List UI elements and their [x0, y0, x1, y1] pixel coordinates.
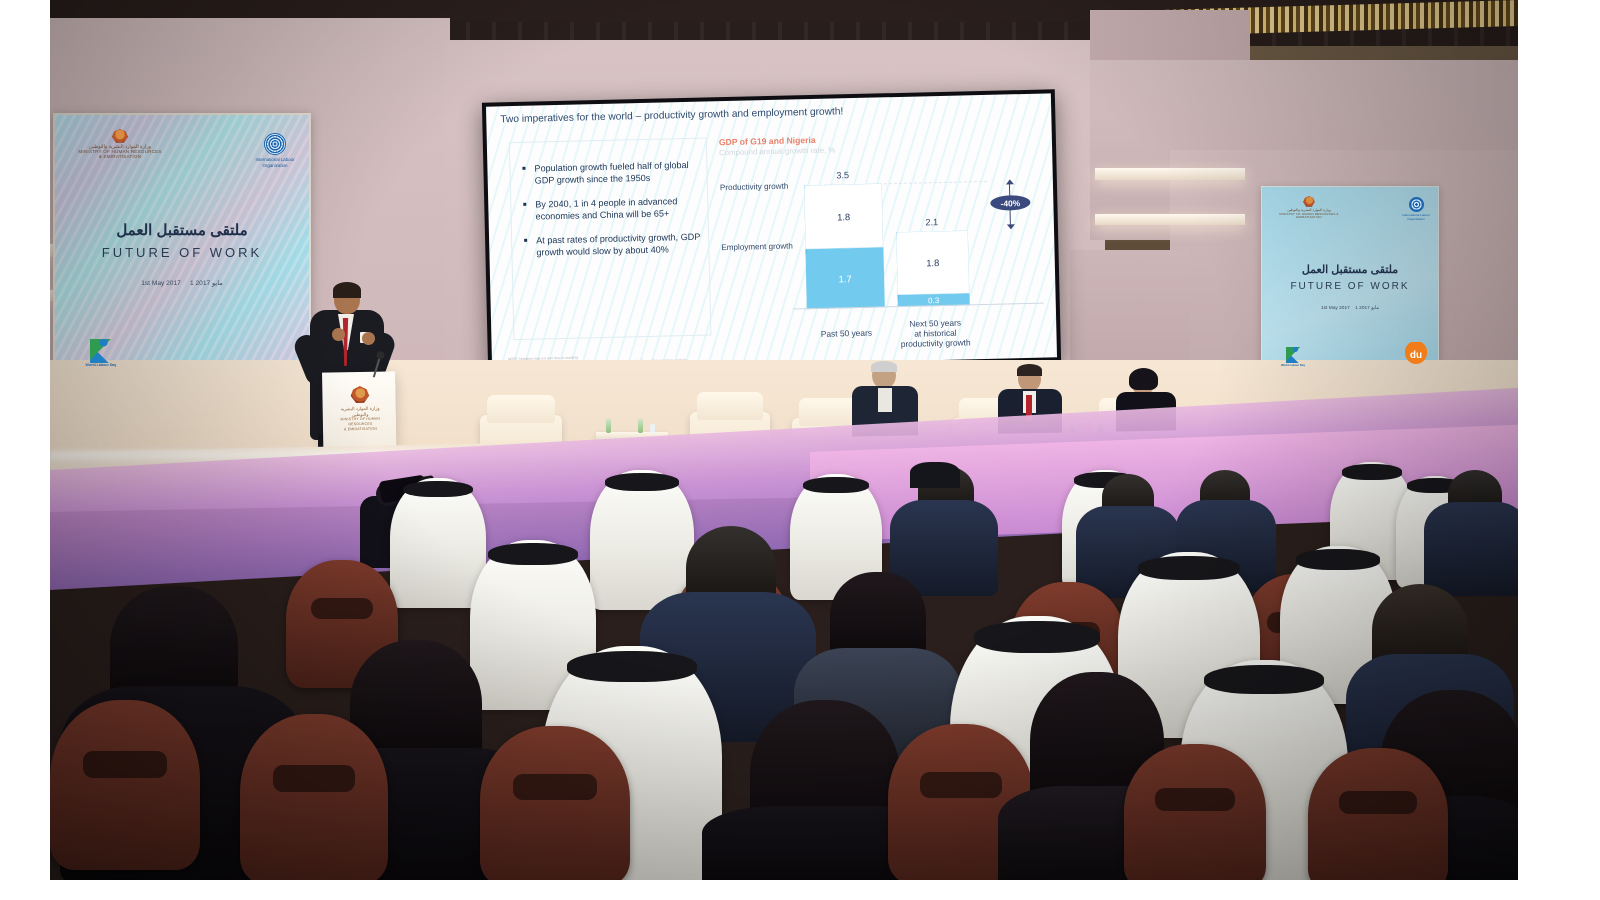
panelist-hijab: [1129, 368, 1158, 390]
conference-photo: وزارة الموارد البشرية والتوطين MINISTRY …: [50, 0, 1518, 880]
series-label-employment: Employment growth: [721, 242, 793, 253]
gdp-growth-chart: GDP of G19 and Nigeria Compound annual g…: [719, 130, 1049, 346]
banner-title-ar: ملتقى مستقبل العمل: [55, 221, 309, 239]
ministry-name-en: MINISTRY OF HUMAN RESOURCES & EMIRATISAT…: [1276, 213, 1342, 219]
panelist-hair: [1017, 364, 1042, 376]
falcon-emblem-icon: [1303, 196, 1316, 207]
ilo-mark-icon: [264, 133, 286, 155]
banner-title-en: FUTURE OF WORK: [1262, 281, 1438, 292]
du-sponsor-logo: du: [1401, 342, 1431, 368]
agal-band-icon: [974, 621, 1099, 653]
banner-title-en: FUTURE OF WORK: [55, 245, 309, 260]
world-labour-day-label: World Labour Day: [71, 363, 131, 367]
podium-ministry-ar: وزارة الموارد البشرية والتوطين: [333, 406, 388, 418]
speaker-hair: [333, 282, 361, 298]
x-tick-label: Past 50 years: [799, 327, 893, 339]
banner-date-en: 1st May 2017: [1321, 306, 1350, 311]
speaker-left-hand: [332, 328, 345, 341]
agal-band-icon: [567, 651, 697, 682]
ilo-name: International Labour Organization: [255, 157, 295, 168]
panelist-hair: [871, 361, 897, 372]
bar-total-value: 3.5: [804, 169, 882, 181]
podium-ministry-en-line2: & EMIRATISATION: [333, 427, 388, 433]
projection-screen: Two imperatives for the world – producti…: [482, 89, 1061, 374]
list-item: At past rates of productivity growth, GD…: [522, 231, 703, 259]
banner-date-ar: 1 مايو 2017: [190, 280, 223, 287]
chart-annotation-callout: -40%: [985, 180, 1035, 181]
banner-date-en: 1st May 2017: [141, 280, 181, 287]
slide-bullet-box: Population growth fueled half of global …: [509, 137, 712, 340]
agal-band-icon: [488, 543, 579, 565]
uae-ministry-crest: وزارة الموارد البشرية والتوطين MINISTRY …: [77, 129, 163, 160]
ilo-mark-icon: [1409, 197, 1424, 212]
slide-title: Two imperatives for the world – producti…: [500, 102, 1041, 126]
falcon-emblem-icon: [111, 129, 129, 143]
kandura-headdress: [590, 470, 694, 610]
bar-segment-employment: 1.7: [805, 247, 884, 309]
bar-segment-productivity: 1.8: [896, 230, 969, 295]
list-item: By 2040, 1 in 4 people in advanced econo…: [521, 195, 702, 223]
bar-past-50-years: 3.5 1.8 1.7: [804, 183, 885, 309]
officer-cap-icon: [910, 462, 960, 488]
water-bottle: [606, 419, 611, 433]
audience-chair: [50, 700, 200, 870]
world-labour-day-label: World Labour Day: [1272, 363, 1314, 367]
water-bottle: [638, 419, 643, 433]
presentation-slide: Two imperatives for the world – producti…: [486, 93, 1057, 370]
du-sponsor-label: du: [1401, 342, 1431, 368]
world-labour-day-logo: World Labour Day: [1272, 347, 1314, 367]
banner-title-ar: ملتقى مستقبل العمل: [1262, 263, 1438, 276]
x-tick-line: productivity growth: [886, 337, 986, 349]
slide-bullet-list: Population growth fueled half of global …: [520, 159, 702, 271]
audience-chair: [1308, 748, 1448, 880]
light-ledge: [1095, 214, 1245, 225]
list-item: Population growth fueled half of global …: [520, 159, 701, 187]
human-figure-icon: [90, 339, 112, 363]
left-event-banner: وزارة الموارد البشرية والتوطين MINISTRY …: [53, 113, 311, 379]
bar-total-value: 2.1: [896, 216, 968, 228]
human-figure-icon: [1286, 347, 1301, 363]
annotation-badge: -40%: [990, 195, 1030, 211]
chart-plot-area: Productivity growth Employment growth 3.…: [719, 154, 1047, 312]
ilo-logo: International Labour Organization: [1402, 197, 1430, 222]
agal-band-icon: [1138, 556, 1240, 580]
speaker-right-hand: [362, 332, 375, 345]
bar-segment-productivity: 1.8: [804, 183, 883, 249]
agal-band-icon: [1204, 665, 1325, 694]
ministry-name-en: MINISTRY OF HUMAN RESOURCES & EMIRATISAT…: [77, 150, 163, 160]
falcon-emblem-icon: [350, 386, 370, 403]
agal-band-icon: [403, 481, 472, 498]
water-glass: [650, 424, 655, 433]
bar-next-50-years: 2.1 1.8 0.3: [896, 230, 970, 307]
ilo-logo: International Labour Organization: [255, 133, 295, 168]
agal-band-icon: [605, 473, 680, 491]
right-event-banner: وزارة الموارد البشرية والتوطين MINISTRY …: [1261, 186, 1439, 376]
series-label-productivity: Productivity growth: [720, 182, 789, 193]
world-labour-day-logo: World Labour Day: [71, 339, 131, 367]
agal-band-icon: [1296, 549, 1380, 570]
ilo-name: International Labour Organization: [1402, 214, 1430, 222]
audience-member: [590, 470, 694, 610]
light-ledge: [1095, 168, 1245, 180]
uae-ministry-crest: وزارة الموارد البشرية والتوطين MINISTRY …: [1276, 196, 1342, 219]
agal-band-icon: [803, 477, 869, 493]
audience-chair: [480, 726, 630, 880]
banner-date-ar: 1 مايو 2017: [1355, 306, 1379, 311]
x-tick-label: Next 50 years at historical productivity…: [885, 317, 986, 350]
audience-chair: [1124, 744, 1266, 880]
agal-band-icon: [1342, 464, 1402, 479]
audience-member-torso: [1424, 502, 1518, 596]
podium-ministry-seal: وزارة الموارد البشرية والتوطين MINISTRY …: [332, 386, 388, 433]
audience-chair: [240, 714, 388, 880]
panelist-shirt: [878, 388, 892, 412]
